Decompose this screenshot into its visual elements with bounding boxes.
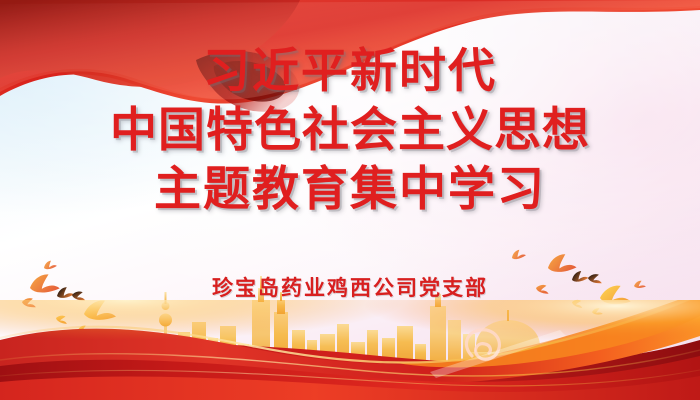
title-line-2: 中国特色社会主义思想 xyxy=(0,107,700,154)
title-line-1: 习近平新时代 xyxy=(0,48,700,95)
banner-subtitle: 珍宝岛药业鸡西公司党支部 xyxy=(0,272,700,302)
banner-title-block: 习近平新时代 中国特色社会主义思想 主题教育集中学习 xyxy=(0,48,700,213)
banner-text-content: 习近平新时代 中国特色社会主义思想 主题教育集中学习 珍宝岛药业鸡西公司党支部 xyxy=(0,0,700,400)
party-education-banner: 习近平新时代 中国特色社会主义思想 主题教育集中学习 珍宝岛药业鸡西公司党支部 xyxy=(0,0,700,400)
title-line-3: 主题教育集中学习 xyxy=(0,166,700,213)
